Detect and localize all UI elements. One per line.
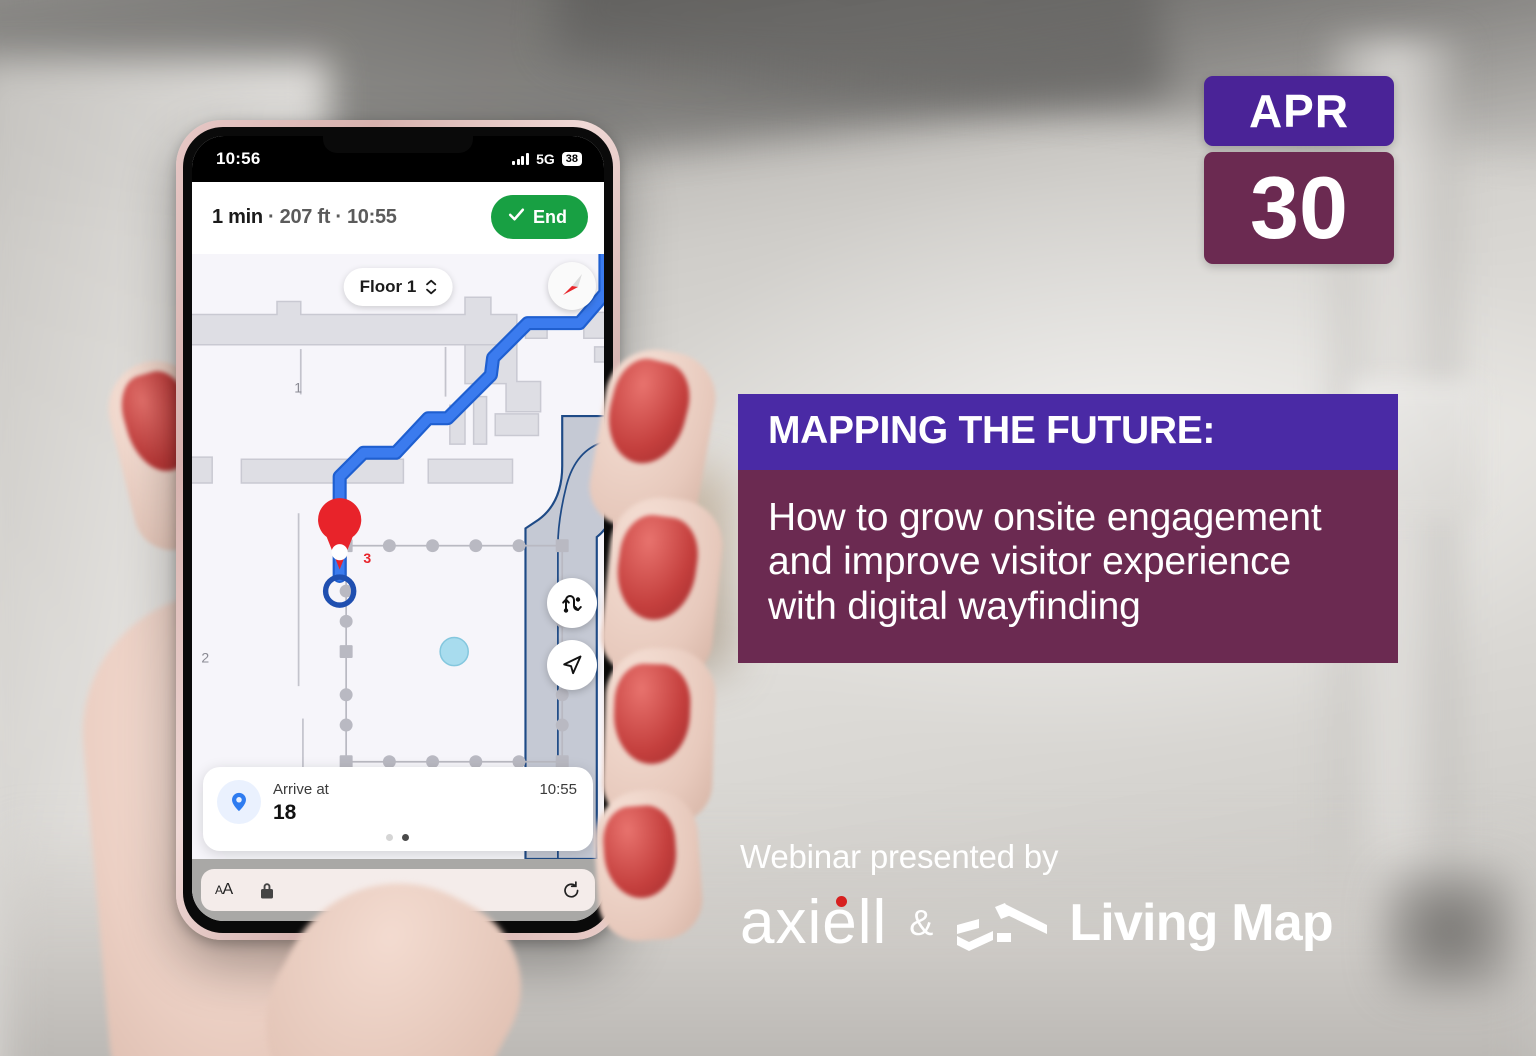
destination-pin-badge [217, 780, 261, 824]
route-summary: 1 min · 207 ft · 10:55 [212, 206, 397, 229]
map-pin-icon [228, 791, 250, 813]
lock-icon [259, 881, 275, 900]
background-dark-object [1380, 866, 1520, 996]
phone-notch [323, 136, 473, 153]
arrive-at-card[interactable]: Arrive at 18 10:55 [203, 767, 593, 851]
arrive-label: Arrive at [273, 781, 527, 799]
phone-screen: 10:56 5G 38 1 min · 207 ft · 10:55 [192, 136, 604, 921]
arrive-text: Arrive at 18 [273, 780, 527, 825]
route-eta: 10:55 [347, 206, 397, 228]
date-month: APR [1204, 76, 1394, 146]
route-sep-1: · [263, 206, 280, 228]
card-pagination-dots[interactable] [217, 834, 577, 841]
room-label-1: 1 [294, 379, 302, 395]
route-steps-icon [559, 590, 585, 616]
chevron-updown-icon [425, 279, 436, 295]
pagination-dot-1[interactable] [402, 834, 409, 841]
route-duration: 1 min [212, 206, 263, 228]
route-distance: 207 ft [280, 206, 330, 228]
ampersand: & [905, 902, 935, 944]
end-navigation-button[interactable]: End [491, 195, 588, 239]
destination-pin [318, 498, 361, 569]
pagination-dot-0[interactable] [386, 834, 393, 841]
indoor-map[interactable]: 3 1 2 Floor 1 [192, 254, 604, 859]
status-time: 10:56 [216, 149, 260, 169]
arrive-row: Arrive at 18 10:55 [217, 780, 577, 825]
navigation-header: 1 min · 207 ft · 10:55 End [192, 182, 604, 254]
compass-icon [548, 262, 596, 310]
checkmark-icon [507, 205, 526, 229]
phone-bezel: 10:56 5G 38 1 min · 207 ft · 10:55 [183, 127, 613, 933]
network-type-label: 5G [536, 151, 555, 167]
status-indicators: 5G 38 [512, 151, 582, 167]
pin-number-label: 3 [363, 550, 371, 566]
headline: MAPPING THE FUTURE: [738, 394, 1398, 470]
axiell-logo-text: axiell [740, 888, 887, 957]
living-map-logo-icon [953, 895, 1051, 951]
signal-strength-icon [512, 153, 529, 165]
reload-icon[interactable] [562, 881, 581, 900]
living-map-logo-text: Living Map [1069, 893, 1333, 953]
title-block: MAPPING THE FUTURE: How to grow onsite e… [738, 394, 1398, 663]
logo-row: axiell & Living Map [740, 892, 1400, 954]
recenter-location-button[interactable] [547, 640, 597, 690]
footer: Webinar presented by axiell & Living Map [740, 838, 1400, 954]
route-overview-button[interactable] [547, 578, 597, 628]
exhibit-dot [440, 638, 468, 666]
room-label-2: 2 [201, 649, 209, 665]
route-sep-2: · [330, 206, 347, 228]
hand-holding-phone: 10:56 5G 38 1 min · 207 ft · 10:55 [0, 0, 760, 1056]
arrive-time: 10:55 [539, 780, 577, 798]
end-button-label: End [533, 207, 567, 228]
floor-selector-label: Floor 1 [360, 277, 417, 297]
smartphone: 10:56 5G 38 1 min · 207 ft · 10:55 [176, 120, 620, 940]
subtitle: How to grow onsite engagement and improv… [738, 470, 1398, 663]
text-size-icon[interactable]: AA [215, 881, 233, 899]
navigation-arrow-icon [559, 652, 585, 678]
date-badge: APR 30 [1204, 76, 1394, 264]
axiell-logo-dot [836, 896, 847, 907]
battery-level-badge: 38 [562, 152, 582, 166]
floor-selector[interactable]: Floor 1 [344, 268, 453, 306]
arrive-destination: 18 [273, 801, 527, 825]
date-day: 30 [1204, 152, 1394, 264]
axiell-logo: axiell [740, 892, 887, 954]
compass-button[interactable] [548, 262, 596, 310]
presented-by-label: Webinar presented by [740, 838, 1400, 876]
